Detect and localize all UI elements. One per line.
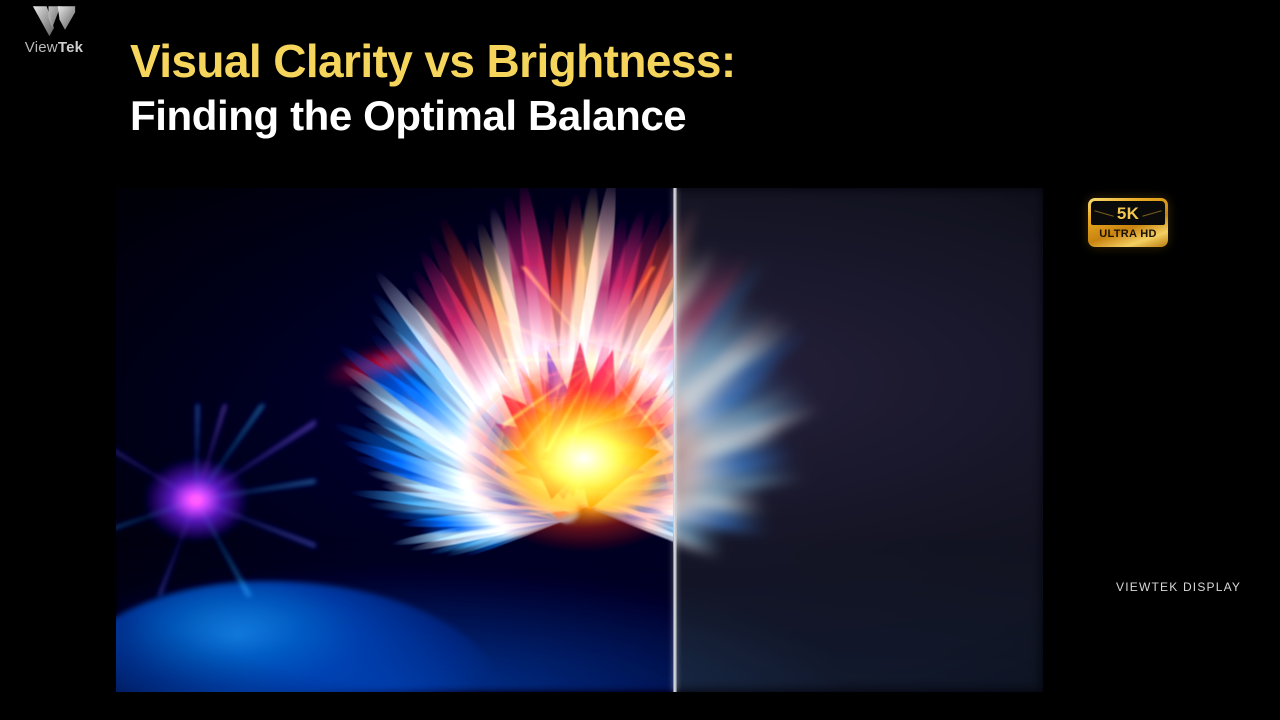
resolution-badge-top: 5K: [1091, 201, 1165, 225]
art-water-sheen: [673, 541, 1043, 692]
brand-logo: ViewTek: [8, 4, 100, 66]
brand-name-suffix: Tek: [58, 39, 83, 56]
brand-name-prefix: View: [25, 39, 58, 56]
comparison-slider-divider[interactable]: [673, 188, 677, 692]
resolution-value: 5K: [1117, 205, 1139, 222]
viewtek-v-mark-icon: [31, 4, 77, 38]
title-line-secondary: Finding the Optimal Balance: [130, 95, 736, 138]
comparison-left-pane: [116, 188, 673, 692]
page-title: Visual Clarity vs Brightness: Finding th…: [130, 38, 736, 138]
art-tendrils: [673, 239, 713, 409]
resolution-badge: 5K ULTRA HD: [1088, 198, 1168, 247]
art-magenta-burst: [121, 440, 271, 560]
artwork-blurred: [673, 188, 1043, 692]
display-caption: VIEWTEK DISPLAY: [1116, 580, 1241, 594]
comparison-image[interactable]: [116, 188, 1043, 692]
brand-name: ViewTek: [25, 39, 83, 56]
comparison-stage: [116, 188, 1043, 692]
artwork-sharp: [116, 188, 673, 692]
comparison-right-pane: [673, 188, 1043, 692]
title-line-primary: Visual Clarity vs Brightness:: [130, 38, 736, 85]
resolution-subtitle: ULTRA HD: [1091, 225, 1165, 244]
art-tendrils: [483, 239, 673, 409]
